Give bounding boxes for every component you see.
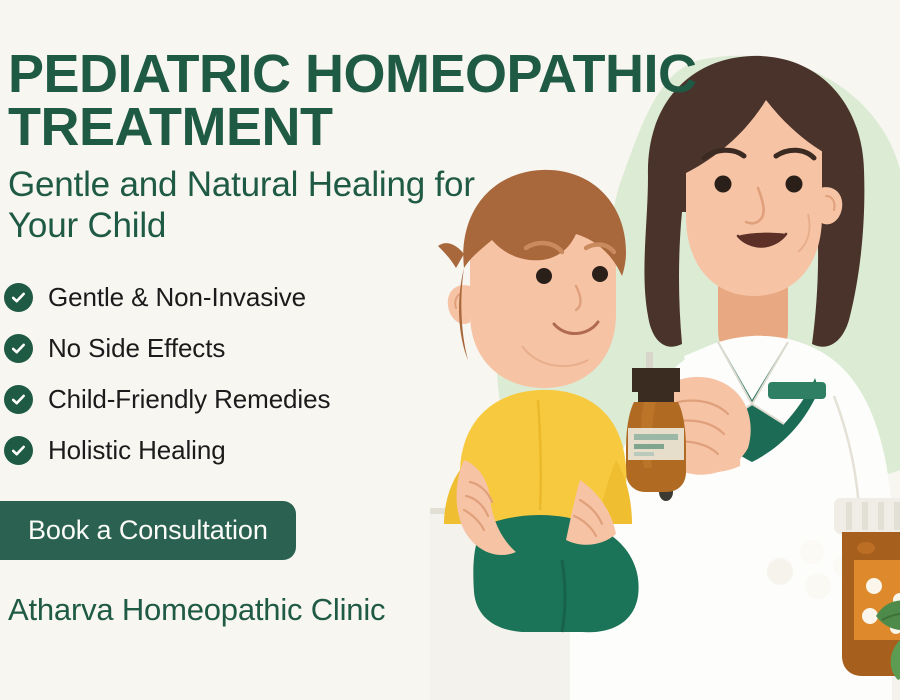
book-consultation-button[interactable]: Book a Consultation xyxy=(0,501,296,560)
clinic-name: Atharva Homeopathic Clinic xyxy=(8,592,385,628)
check-circle-icon xyxy=(4,436,33,465)
list-item: Gentle & Non-Invasive xyxy=(4,272,330,323)
list-item: No Side Effects xyxy=(4,323,330,374)
dropper-bottle xyxy=(626,352,686,492)
feature-label: No Side Effects xyxy=(48,333,225,364)
list-item: Holistic Healing xyxy=(4,425,330,476)
feature-label: Child-Friendly Remedies xyxy=(48,384,330,415)
feature-label: Gentle & Non-Invasive xyxy=(48,282,306,313)
page-title: PEDIATRIC HOMEOPATHIC TREATMENT xyxy=(8,48,748,154)
pill-bottle xyxy=(834,498,900,676)
list-item: Child-Friendly Remedies xyxy=(4,374,330,425)
feature-label: Holistic Healing xyxy=(48,435,226,466)
check-circle-icon xyxy=(4,385,33,414)
feature-list: Gentle & Non-Invasive No Side Effects Ch… xyxy=(4,272,330,476)
check-circle-icon xyxy=(4,283,33,312)
promo-banner: PEDIATRIC HOMEOPATHIC TREATMENT Gentle a… xyxy=(0,0,900,700)
subtitle: Gentle and Natural Healing for Your Chil… xyxy=(8,165,528,246)
check-circle-icon xyxy=(4,334,33,363)
